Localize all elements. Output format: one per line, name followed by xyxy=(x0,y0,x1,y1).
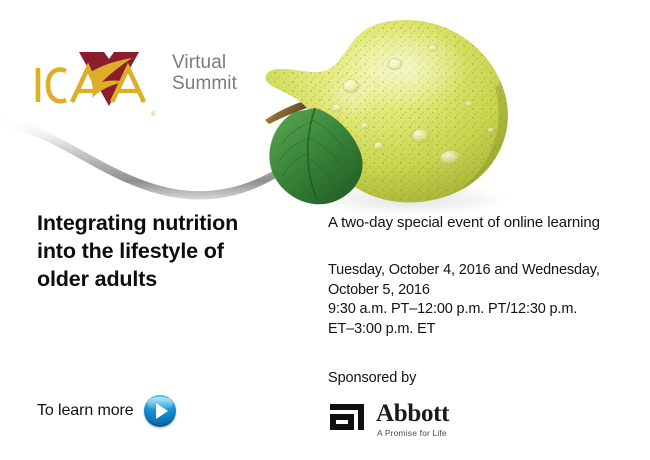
headline-line-3: older adults xyxy=(37,265,302,293)
wordmark-line-2: Summit xyxy=(172,73,237,94)
page-title: Integrating nutrition into the lifestyle… xyxy=(37,209,302,293)
play-triangle-icon xyxy=(156,403,168,419)
wordmark-line-1: Virtual xyxy=(172,52,237,73)
sponsored-by-label: Sponsored by xyxy=(328,369,548,387)
headline-line-2: into the lifestyle of xyxy=(37,237,302,265)
maroon-triangle-icon xyxy=(79,52,139,106)
headline-line-1: Integrating nutrition xyxy=(37,209,302,237)
icaa-virtual-summit-logo: ® Virtual Summit xyxy=(32,50,262,114)
sponsor-section: Sponsored by Abbott A Promise for Life xyxy=(328,369,548,442)
event-time-line-1: 9:30 a.m. PT–12:00 p.m. PT/12:30 p.m. xyxy=(328,300,640,320)
event-datetime: Tuesday, October 4, 2016 and Wednesday, … xyxy=(328,261,640,339)
pear-svg xyxy=(255,8,545,223)
event-time-line-2: ET–3:00 p.m. ET xyxy=(328,320,640,340)
learn-more-cta[interactable]: To learn more xyxy=(37,392,176,430)
abbott-logo: Abbott A Promise for Life xyxy=(328,400,538,442)
event-details: A two-day special event of online learni… xyxy=(328,213,640,339)
summit-wordmark: Virtual Summit xyxy=(172,52,237,94)
registered-trademark-icon: ® xyxy=(151,112,155,118)
play-circle-icon[interactable] xyxy=(144,395,176,427)
abbott-wordmark: Abbott xyxy=(376,400,449,427)
event-date-line-2: October 5, 2016 xyxy=(328,281,640,301)
icaa-logo-mark xyxy=(32,50,152,108)
event-subheading: A two-day special event of online learni… xyxy=(328,213,640,233)
event-date-line-1: Tuesday, October 4, 2016 and Wednesday, xyxy=(328,261,640,281)
promotional-banner: ® Virtual Summit Integrating nutrition i… xyxy=(0,0,650,460)
abbott-symbol-icon xyxy=(328,402,368,432)
abbott-tagline: A Promise for Life xyxy=(377,428,447,438)
pear-illustration xyxy=(255,8,545,223)
learn-more-label: To learn more xyxy=(37,402,134,420)
